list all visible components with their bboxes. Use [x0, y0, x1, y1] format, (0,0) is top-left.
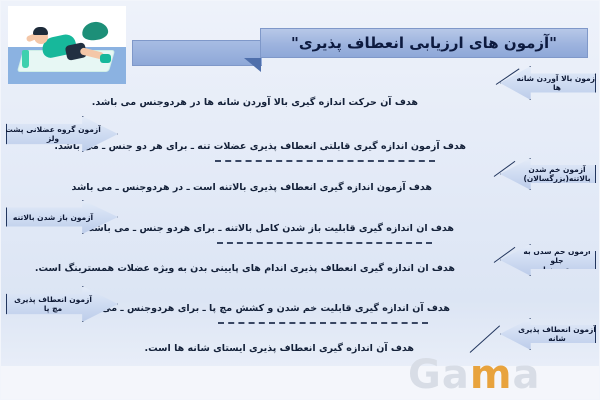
- page-title: "آزمون های ارزیابی انعطاف پذیری": [260, 28, 588, 58]
- callout-shoulder-raise-label: آزمون بالا آوردن شانه ها: [516, 74, 597, 92]
- page-title-text: "آزمون های ارزیابی انعطاف پذیری": [291, 34, 557, 52]
- leader-line-4: [470, 325, 500, 353]
- water-bottle-icon: [22, 50, 29, 68]
- title-banner-fold: [244, 58, 261, 72]
- description-line-5: هدف ان اندازه گیری انعطاف پذیری اندام ها…: [35, 262, 455, 276]
- separator-2: [217, 242, 432, 244]
- description-line-3: هدف آزمون اندازه گیری انعطاف پذیری بالات…: [71, 181, 432, 195]
- callout-trunk-extension-label: آزمون باز شدن بالاتنه: [13, 213, 93, 222]
- description-line-4: هدف ان اندازه گیری قابلیت باز شدن کامل ب…: [85, 222, 454, 236]
- callout-shoulder-raise[interactable]: آزمون بالا آوردن شانه ها: [500, 66, 596, 100]
- exercise-illustration: [8, 6, 126, 84]
- watermark-logo: Gama: [408, 352, 588, 398]
- callout-ankle-flexibility-label: آزمون انعطاف پذیری مچ پا: [14, 295, 92, 313]
- person-hair: [33, 27, 48, 35]
- separator-1: [215, 160, 435, 162]
- separator-3: [218, 322, 428, 324]
- callout-back-muscle-group-label: آزمون گروه عضلانی پشت ولز: [5, 125, 101, 143]
- description-line-1: هدف آن حرکت اندازه گیری بالا آوردن شانه …: [92, 96, 418, 110]
- callout-ankle-flexibility[interactable]: آزمون انعطاف پذیری مچ پا: [6, 286, 118, 322]
- description-line-6: هدف آن اندازه گیری قابلیت خم شدن و کشش م…: [73, 302, 450, 316]
- title-banner-tail: [132, 40, 262, 66]
- watermark-part-accent: m: [470, 352, 513, 398]
- watermark-part-1: Ga: [408, 352, 470, 398]
- callout-sit-and-reach-chair[interactable]: آزمون خم شدن به جلو روی صندلی: [500, 244, 596, 276]
- slide-canvas: "آزمون های ارزیابی انعطاف پذیری" هدف آن …: [0, 0, 600, 400]
- watermark-part-2: a: [513, 352, 541, 398]
- callout-sit-and-reach-chair-label: آزمون خم شدن به جلو روی صندلی: [516, 247, 598, 274]
- description-line-7: هدف آن اندازه گیری انعطاف پذیری ایستای ش…: [145, 342, 414, 356]
- person-shoe: [100, 54, 111, 63]
- callout-trunk-flexion-adults[interactable]: آزمون خم شدن بالاتنه(بزرگسالان): [500, 158, 596, 190]
- callout-trunk-flexion-adults-label: آزمون خم شدن بالاتنه(بزرگسالان): [523, 165, 590, 183]
- callout-shoulder-flexibility[interactable]: آزمون انعطاف پذیری شانه: [500, 318, 596, 350]
- callout-shoulder-flexibility-label: آزمون انعطاف پذیری شانه: [518, 325, 596, 343]
- description-line-2: هدف آزمون اندازه گیری قابلتی انعطاف پذیر…: [54, 140, 466, 154]
